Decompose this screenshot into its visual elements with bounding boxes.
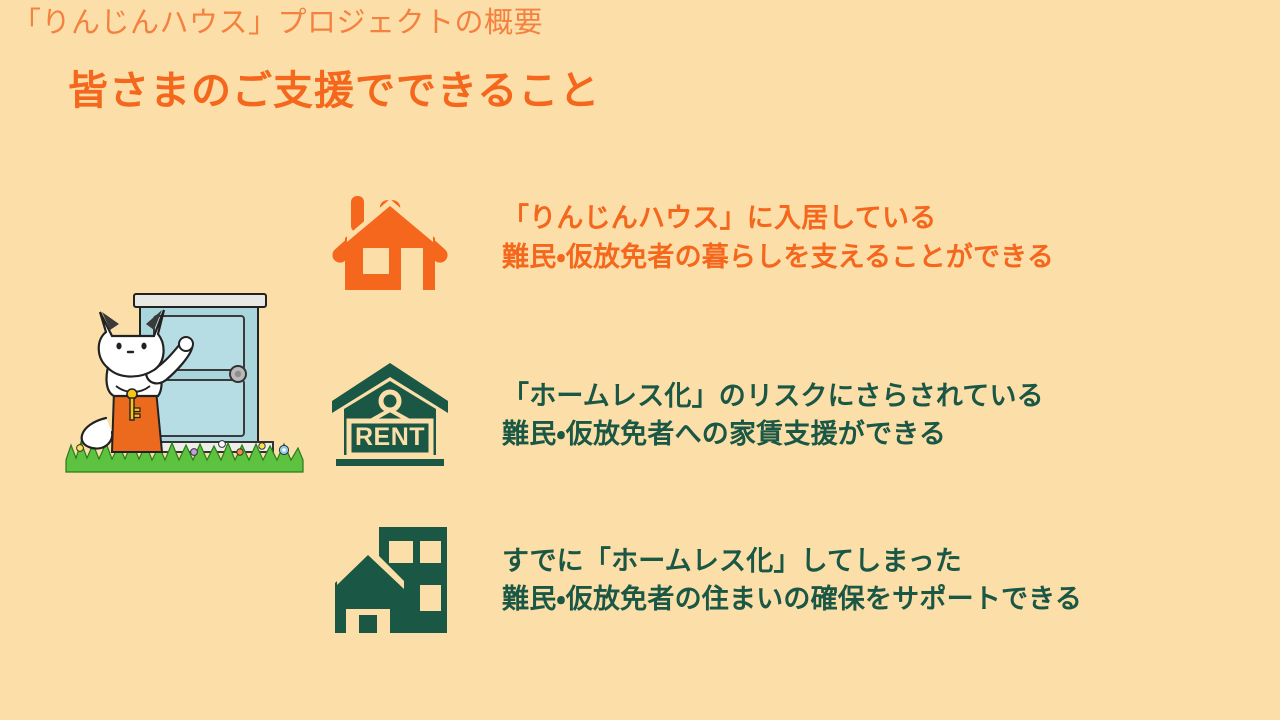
house-icon [320, 178, 460, 298]
benefit-text-1: 「りんじんハウス」に入居している 難民・仮放免者の暮らしを支えることができる [502, 199, 1054, 276]
benefit-line-2b: 難民・仮放免者への家賃支援ができる [502, 415, 1044, 453]
page-title: 皆さまのご支援でできること [68, 68, 600, 114]
benefit-row-2: RENT 「ホームレス化」のリスクにさらされている 難民・仮放免者への家賃支援が… [320, 355, 1240, 475]
cat-at-door-illustration [62, 282, 307, 474]
rent-sign-icon: RENT [320, 355, 460, 475]
house-icon-svg [325, 178, 455, 298]
benefit-line-3a: すでに「ホームレス化」してしまった [502, 542, 1082, 580]
house-and-apartment-icon-svg [331, 525, 449, 635]
benefit-line-3b: 難民・仮放免者の住まいの確保をサポートできる [502, 580, 1082, 618]
rent-sign-label: RENT [355, 423, 425, 451]
slide-kicker: 「りんじんハウス」プロジェクトの概要 [12, 7, 543, 40]
rent-sign-icon-svg: RENT [330, 359, 450, 471]
benefit-row-1: 「りんじんハウス」に入居している 難民・仮放免者の暮らしを支えることができる [320, 175, 1240, 300]
benefit-line-1b: 難民・仮放免者の暮らしを支えることができる [502, 238, 1054, 276]
slide-root: 「りんじんハウス」プロジェクトの概要 皆さまのご支援でできること [0, 0, 1280, 720]
cat-at-door-svg [62, 282, 307, 474]
benefit-text-3: すでに「ホームレス化」してしまった 難民・仮放免者の住まいの確保をサポートできる [502, 542, 1082, 619]
house-and-apartment-icon [320, 520, 460, 640]
benefit-text-2: 「ホームレス化」のリスクにさらされている 難民・仮放免者への家賃支援ができる [502, 377, 1044, 454]
benefit-line-2a: 「ホームレス化」のリスクにさらされている [502, 377, 1044, 415]
benefit-row-3: すでに「ホームレス化」してしまった 難民・仮放免者の住まいの確保をサポートできる [320, 520, 1240, 640]
benefit-line-1a: 「りんじんハウス」に入居している [502, 199, 1054, 237]
